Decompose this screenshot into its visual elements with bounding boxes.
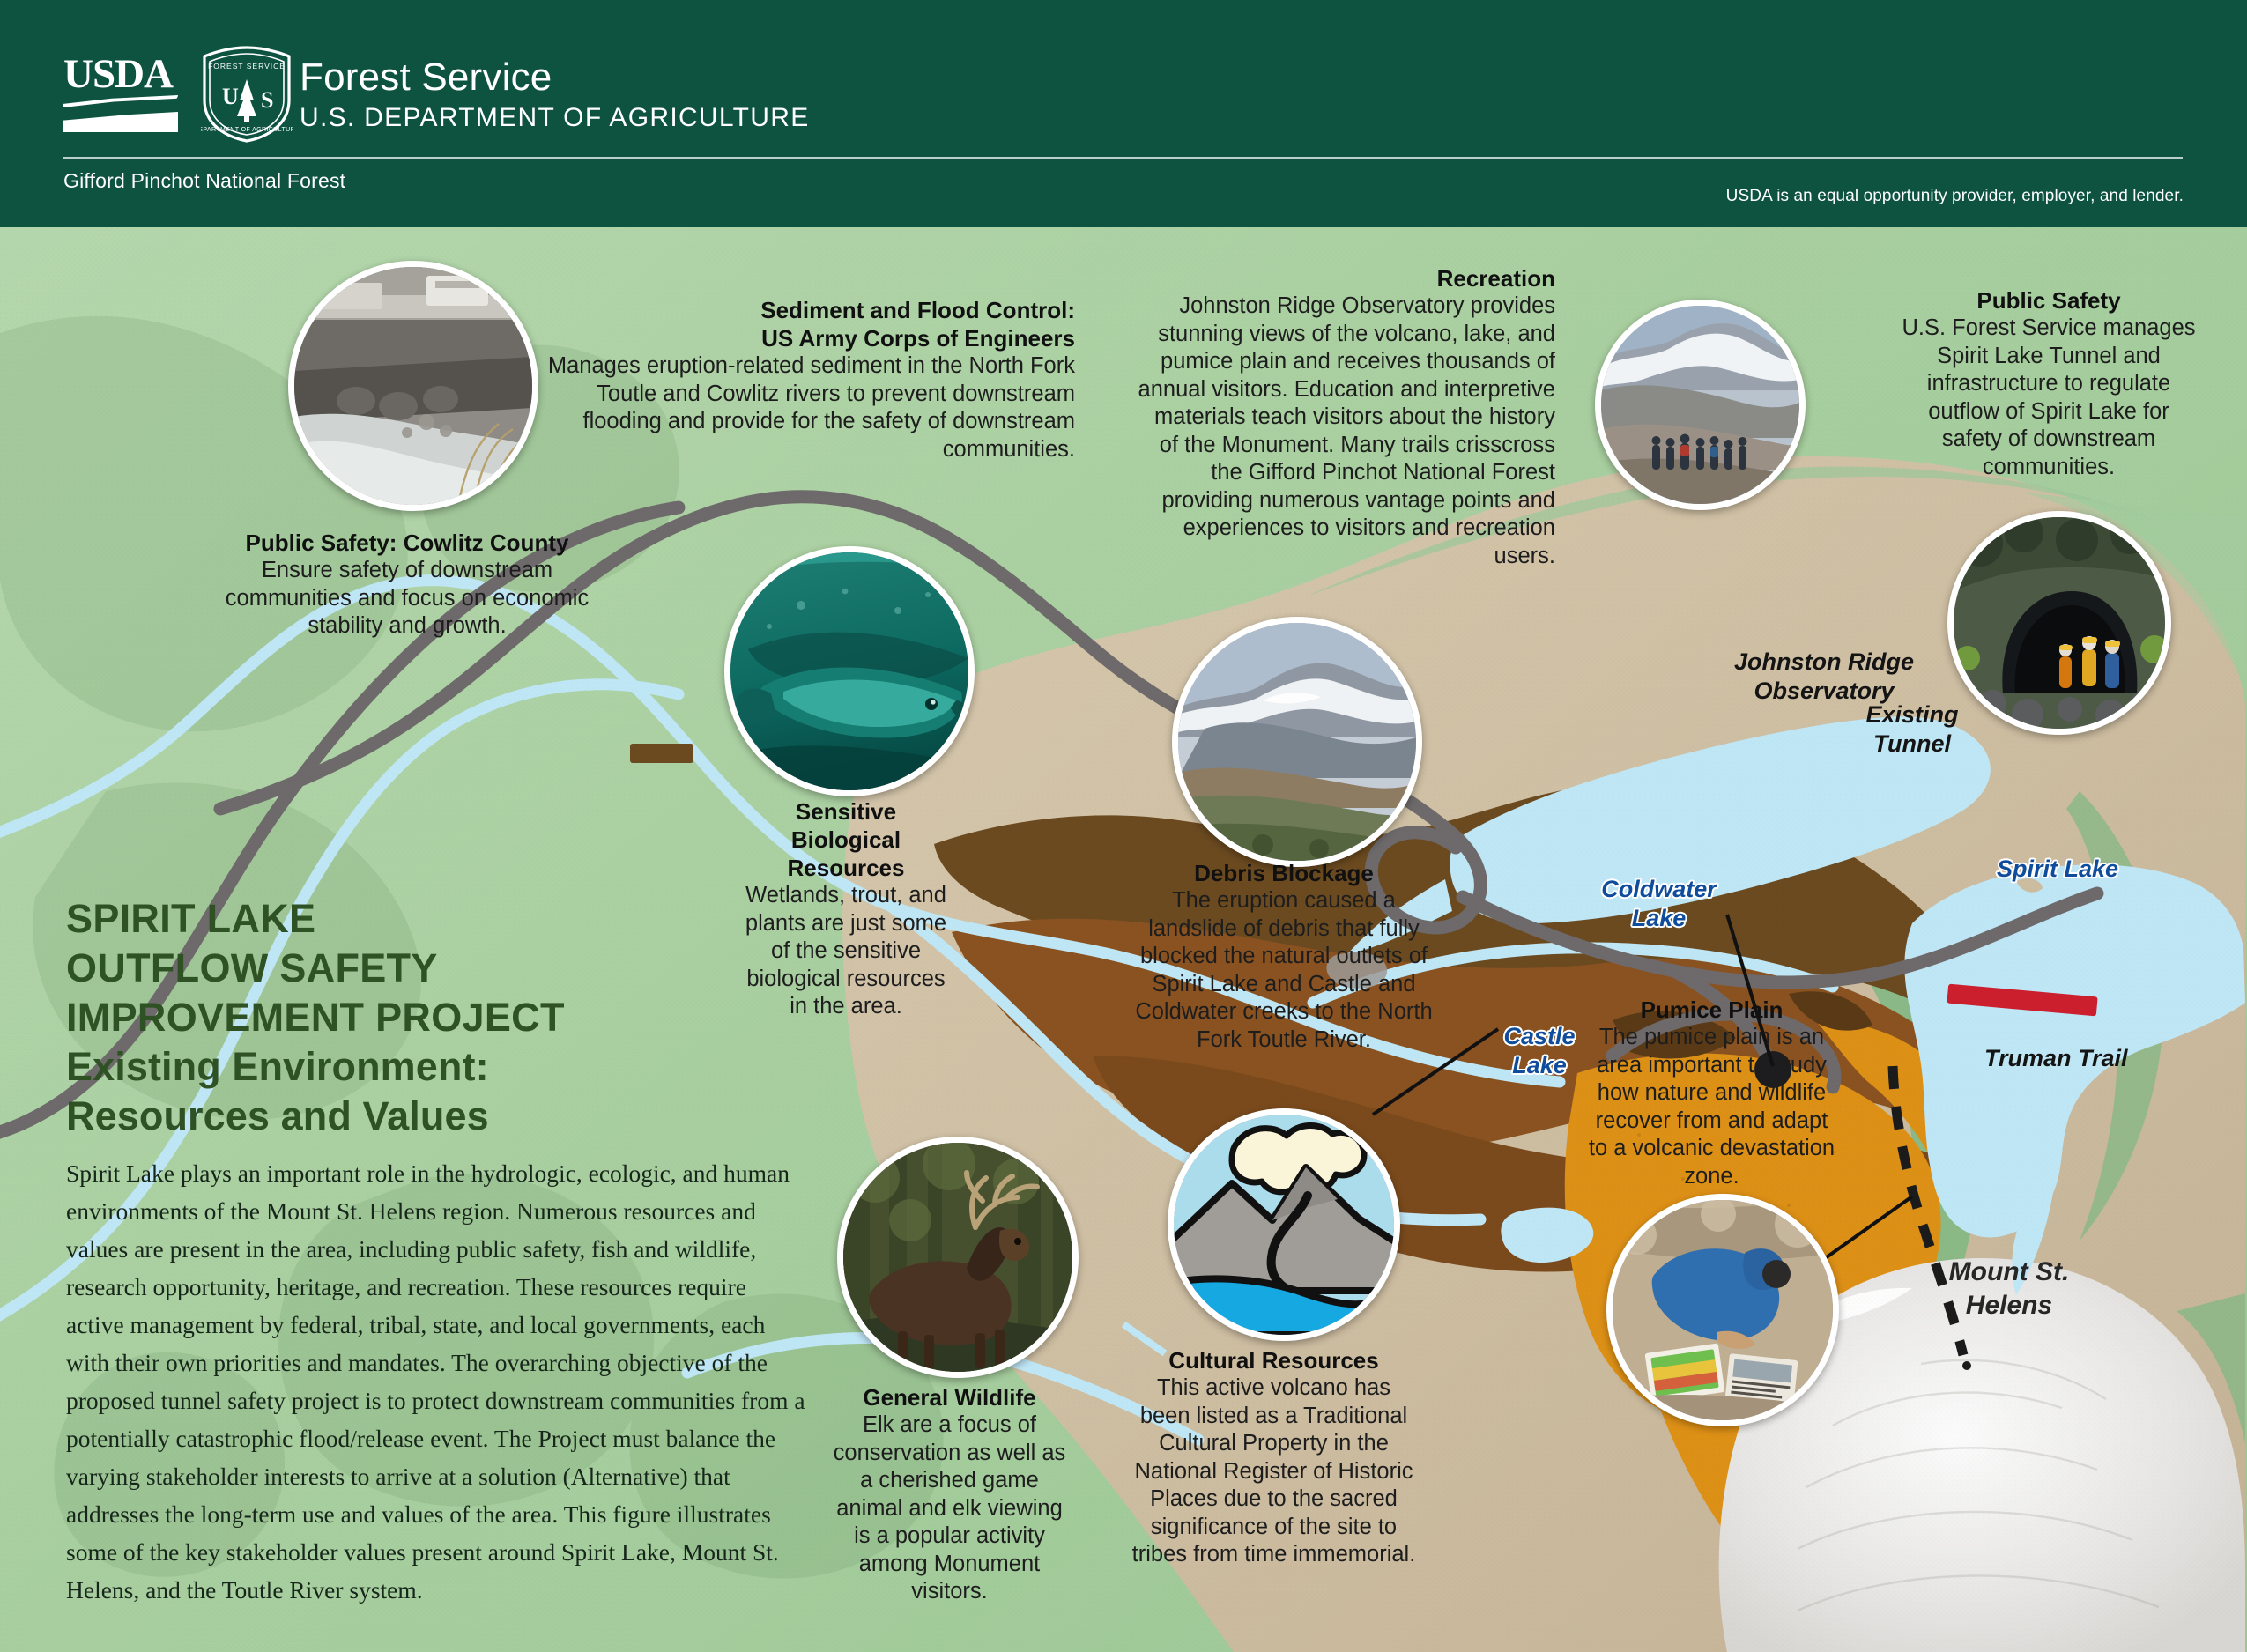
usda-logo: USDA: [63, 55, 178, 134]
callout-title: Cultural Resources: [1131, 1346, 1417, 1374]
usda-header-bar: USDA FOREST SERVICE U S DEPARTMENT OF AG…: [0, 0, 2247, 227]
callout-body: The eruption caused a landslide of debri…: [1130, 887, 1438, 1054]
label-truman-trail: Truman Trail: [1984, 1044, 2214, 1073]
callout-body: Manages eruption-related sediment in the…: [546, 352, 1075, 463]
photo-archaeology: [1606, 1194, 1839, 1426]
callout-title: General Wildlife: [833, 1383, 1066, 1411]
photo-cultural-icon: [1168, 1108, 1400, 1341]
svg-text:S: S: [261, 87, 273, 113]
callout-recreation: Recreation Johnston Ridge Observatory pr…: [1137, 264, 1555, 570]
title-line-3: IMPROVEMENT PROJECT: [66, 993, 842, 1042]
header-divider: [63, 157, 2183, 159]
label-existing-tunnel: Existing Tunnel: [1833, 700, 1991, 759]
svg-text:U: U: [222, 84, 239, 109]
callout-title: Pumice Plain: [1586, 996, 1837, 1024]
callout-body: Johnston Ridge Observatory provides stun…: [1137, 293, 1555, 570]
usda-logo-bars: [63, 95, 178, 132]
callout-body: Wetlands, trout, and plants are just som…: [745, 882, 947, 1021]
callout-pumice-plain: Pumice Plain The pumice plain is an area…: [1586, 996, 1837, 1190]
callout-general-wildlife: General Wildlife Elk are a focus of cons…: [833, 1383, 1066, 1606]
usda-wordmark: USDA: [63, 55, 178, 93]
callout-body: Ensure safety of downstream communities …: [222, 557, 592, 641]
header-title-group: Forest Service U.S. DEPARTMENT OF AGRICU…: [300, 55, 810, 134]
callout-title: Sediment and Flood Control:: [546, 296, 1075, 324]
title-line-4: Existing Environment:: [66, 1042, 842, 1092]
photo-trout: [724, 546, 975, 796]
callout-sensitive-biological-resources: Sensitive Biological Resources Wetlands,…: [745, 797, 947, 1021]
callout-title: Recreation: [1137, 264, 1555, 293]
agency-name: Forest Service: [300, 55, 810, 100]
callout-title-2: US Army Corps of Engineers: [546, 324, 1075, 352]
infographic-poster: USDA FOREST SERVICE U S DEPARTMENT OF AG…: [0, 0, 2247, 1652]
callout-body: Elk are a focus of conservation as well …: [833, 1411, 1066, 1606]
title-line-1: SPIRIT LAKE: [66, 894, 842, 944]
photo-volcano-vista: [1172, 617, 1422, 867]
callout-public-safety-usfs: Public Safety U.S. Forest Service manage…: [1899, 286, 2199, 481]
callout-body: This active volcano has been listed as a…: [1131, 1374, 1417, 1569]
callout-body: U.S. Forest Service manages Spirit Lake …: [1899, 315, 2199, 481]
title-line-2: OUTFLOW SAFETY: [66, 944, 842, 993]
callout-debris-blockage: Debris Blockage The eruption caused a la…: [1130, 859, 1438, 1054]
callout-title: Public Safety: [1899, 286, 2199, 315]
svg-text:FOREST SERVICE: FOREST SERVICE: [208, 62, 286, 70]
label-coldwater-lake: Coldwater Lake: [1564, 875, 1754, 933]
photo-elk: [837, 1137, 1079, 1378]
callout-sediment-flood-control: Sediment and Flood Control: US Army Corp…: [546, 296, 1075, 463]
callout-title: Sensitive Biological Resources: [745, 797, 947, 882]
title-line-5: Resources and Values: [66, 1092, 842, 1141]
label-spirit-lake: Spirit Lake: [1965, 855, 2150, 884]
callout-title: Public Safety: Cowlitz County: [222, 529, 592, 557]
callout-body: The pumice plain is an area important to…: [1586, 1024, 1837, 1190]
page-title: SPIRIT LAKE OUTFLOW SAFETY IMPROVEMENT P…: [66, 894, 842, 1141]
forest-service-shield-icon: FOREST SERVICE U S DEPARTMENT OF AGRICUL…: [201, 46, 293, 143]
forest-name: Gifford Pinchot National Forest: [63, 169, 345, 193]
svg-text:DEPARTMENT OF AGRICULTURE: DEPARTMENT OF AGRICULTURE: [201, 127, 293, 133]
eeo-statement: USDA is an equal opportunity provider, e…: [1726, 187, 2184, 206]
photo-cowlitz-culverts: [288, 261, 538, 511]
callout-title: Debris Blockage: [1130, 859, 1438, 887]
intro-paragraph: Spirit Lake plays an important role in t…: [66, 1154, 806, 1609]
label-johnston-ridge-observatory: Johnston Ridge Observatory: [1709, 648, 1939, 706]
label-mount-st-helens: Mount St. Helens: [1903, 1256, 2115, 1322]
callout-cultural-resources: Cultural Resources This active volcano h…: [1131, 1346, 1417, 1569]
callout-public-safety-cowlitz: Public Safety: Cowlitz County Ensure saf…: [222, 529, 592, 641]
department-name: U.S. DEPARTMENT OF AGRICULTURE: [300, 102, 810, 134]
usda-swoosh-shape: [63, 95, 178, 110]
photo-visitors-ridge: [1595, 300, 1806, 510]
usda-field-shape: [63, 112, 178, 132]
